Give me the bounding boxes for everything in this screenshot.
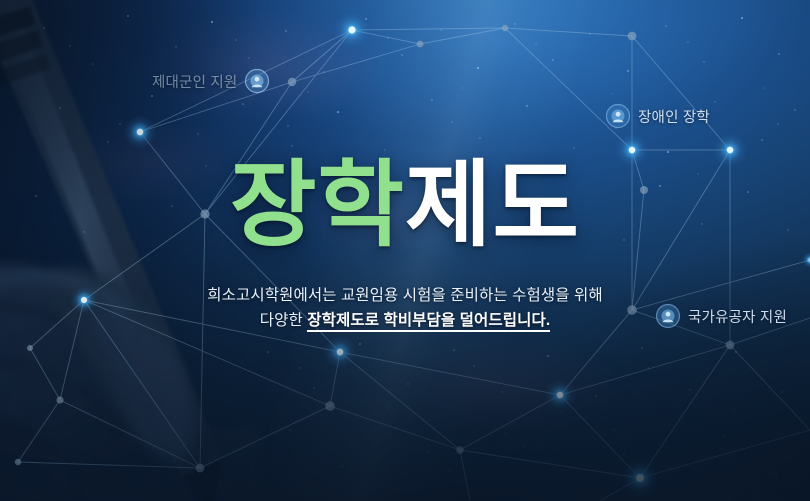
banner-title: 장학제도 (0, 158, 810, 252)
subtitle-line-2-prefix: 다양한 (260, 312, 308, 329)
network-node-icon (244, 68, 270, 94)
node-label-merit-text: 국가유공자 지원 (688, 306, 787, 327)
node-label-merit: 국가유공자 지원 (655, 303, 787, 329)
scholarship-banner: 장학제도 희소고시학원에서는 교원임용 시험을 준비하는 수험생을 위해 다양한… (0, 0, 810, 501)
node-label-disabled: 장애인 장학 (605, 103, 710, 129)
subtitle-line-2-emphasis: 장학제도로 학비부담을 덜어드립니다. (307, 312, 550, 332)
banner-title-rest: 제도 (405, 152, 580, 257)
node-label-disabled-text: 장애인 장학 (638, 106, 710, 127)
network-node-icon (655, 303, 681, 329)
banner-title-highlight: 장학 (230, 152, 405, 257)
node-label-veteran-text: 제대군인 지원 (152, 71, 237, 92)
network-node-icon (605, 103, 631, 129)
node-label-veteran: 제대군인 지원 (152, 68, 270, 94)
